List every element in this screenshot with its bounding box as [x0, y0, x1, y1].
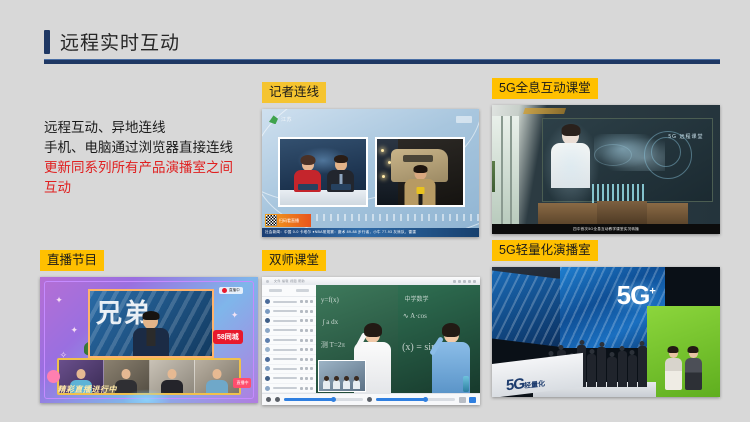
- main-stage-video: 兄弟: [88, 289, 214, 359]
- volume-slider[interactable]: [284, 398, 363, 401]
- subject-body: [665, 358, 682, 390]
- participant-name: [273, 320, 297, 322]
- camera-icon[interactable]: [310, 339, 313, 342]
- van-window: [403, 155, 433, 162]
- host-head: [143, 313, 158, 329]
- header-divider: [44, 59, 720, 64]
- subject-hair: [668, 346, 679, 353]
- teacher-video-right[interactable]: 中学数学 ∿ A·cos (x) = sin: [398, 285, 480, 394]
- participant-row[interactable]: [262, 345, 316, 355]
- ceiling-light: [523, 108, 566, 114]
- camera-icon[interactable]: [310, 310, 313, 313]
- reporter-figure: [405, 167, 436, 205]
- toolbar-icon: [458, 280, 461, 283]
- subject-figure: [665, 348, 682, 390]
- camera-icon[interactable]: [310, 329, 313, 332]
- channel-logo-text: 江苏: [281, 116, 292, 123]
- guest-thumbnail: [195, 360, 239, 393]
- titlebar-right-icons: [453, 280, 476, 283]
- anchor-folder: [298, 184, 318, 190]
- participant-row[interactable]: [262, 326, 316, 336]
- visitor-figure: [607, 357, 616, 387]
- clock-badge: [456, 116, 472, 123]
- qr-code-icon: [266, 215, 277, 226]
- participant-actions[interactable]: [300, 339, 313, 342]
- water-bottle: [463, 376, 469, 392]
- chalk-writing: 测 T=2π: [321, 340, 345, 350]
- anchor-hair: [334, 155, 348, 163]
- camera-icon[interactable]: [310, 319, 313, 322]
- mic-icon[interactable]: [305, 387, 308, 390]
- channel-logo: 江苏: [269, 115, 292, 124]
- participant-avatar: [265, 376, 270, 381]
- visitor-figure: [597, 347, 606, 387]
- student-figure: [333, 380, 340, 389]
- participant-row[interactable]: [262, 365, 316, 375]
- street-lamp-icon: [381, 149, 384, 152]
- participant-name: [273, 387, 297, 389]
- teacher-hair: [442, 323, 460, 337]
- camera-icon[interactable]: [310, 377, 313, 380]
- host-hair: [142, 311, 159, 320]
- participant-avatar: [265, 357, 270, 362]
- anchor-left: [294, 158, 321, 192]
- participant-avatar: [265, 328, 270, 333]
- guest-head: [167, 369, 176, 379]
- tile-caption-holographic-classroom: 5G全息互动课堂: [492, 78, 598, 99]
- participant-actions[interactable]: [300, 367, 313, 370]
- guest-body: [161, 380, 183, 393]
- window-mullion: [510, 116, 512, 224]
- user-icon[interactable]: [300, 377, 303, 380]
- teacher-hair: [364, 323, 382, 337]
- tile-reporter-link: 记者连线 江苏: [262, 82, 479, 237]
- app-bottom-toolbar[interactable]: [262, 393, 480, 405]
- participant-name: [273, 349, 297, 351]
- participant-name: [273, 301, 297, 303]
- visitor-figure: [587, 354, 596, 387]
- mic-icon[interactable]: [275, 397, 280, 402]
- sparkle-icon: ✦: [71, 325, 79, 336]
- copy-line-3: 更新同系列所有产品演播室之间: [44, 158, 259, 178]
- hologram-teacher: [551, 126, 590, 206]
- corner-pill-badge: 直播中: [233, 378, 251, 388]
- decor-orb: [123, 389, 171, 403]
- anchor-folder: [331, 184, 351, 190]
- chalk-writing: ∿ A·cos: [403, 312, 427, 320]
- screenshot-video-conference-app: 文件 编辑 视图 帮助: [262, 277, 480, 405]
- fullscreen-button[interactable]: [469, 397, 476, 403]
- tile-lightweight-5g-studio: 5G轻量化演播室 5G+: [492, 240, 720, 397]
- camera-icon[interactable]: [310, 387, 313, 390]
- teacher-head: [444, 326, 459, 343]
- user-icon[interactable]: [300, 339, 303, 342]
- student-figure: [343, 380, 350, 389]
- accent-bar-icon: [44, 30, 50, 54]
- participant-row[interactable]: [262, 297, 316, 307]
- participant-avatar: [265, 338, 270, 343]
- user-icon[interactable]: [300, 387, 303, 390]
- window-foliage: [492, 161, 495, 191]
- green-screen-subjects: [665, 348, 702, 390]
- leaf-icon: [269, 115, 278, 124]
- camera-icon[interactable]: [310, 358, 313, 361]
- student-figure: [353, 380, 360, 389]
- participant-actions[interactable]: [300, 358, 313, 361]
- participant-name: [273, 329, 297, 331]
- tile-caption-reporter-link: 记者连线: [262, 82, 326, 103]
- toolbar-icon: [463, 280, 466, 283]
- led-5g-superscript: +: [649, 286, 654, 298]
- visitor-figure: [638, 346, 647, 387]
- signage-sub: 轻量化: [524, 381, 545, 391]
- signage-5g: 5G: [506, 375, 524, 394]
- participant-actions[interactable]: [300, 377, 313, 380]
- anchor-desk: [280, 190, 366, 205]
- mic-icon[interactable]: [305, 300, 308, 303]
- toolbar-actions[interactable]: [459, 397, 476, 403]
- screenshot-expo-booth: 5G+: [492, 267, 720, 397]
- app-menubar-text: 文件 编辑 视图 帮助: [274, 279, 305, 283]
- tile-caption-live-program: 直播节目: [40, 250, 104, 271]
- participant-row[interactable]: [262, 384, 316, 394]
- live-tag: 直播中: [219, 287, 243, 294]
- video-stage: y=f(x) ∫ a dx 测 T=2π: [316, 285, 480, 394]
- caption-bar: 四中首次5G全息互动教学课堂实况转播: [492, 224, 720, 234]
- participant-row[interactable]: [262, 336, 316, 346]
- host-inner-shirt: [146, 328, 155, 346]
- settings-icon[interactable]: [266, 397, 271, 402]
- visitor-figure: [618, 351, 627, 387]
- street-lamp-icon: [382, 175, 385, 178]
- host-figure: [133, 313, 169, 356]
- sidebar-header-col: [269, 289, 282, 292]
- sparkle-icon: ✦: [231, 310, 239, 321]
- user-icon[interactable]: [300, 348, 303, 351]
- participant-actions[interactable]: [300, 310, 313, 313]
- sponsor-badge: 58同城: [213, 330, 243, 344]
- brightness-slider[interactable]: [376, 398, 455, 401]
- screenshot-holographic-classroom: 5G 远程课堂 四中首次5G全息互动教学课堂实况转播: [492, 105, 720, 234]
- subject-hair: [688, 346, 699, 353]
- board-text: 5G 远程课堂: [668, 133, 703, 140]
- body-copy: 远程互动、异地连线 手机、电脑通过浏览器直接连线 更新同系列所有产品演播室之间 …: [44, 118, 259, 198]
- participant-actions[interactable]: [300, 300, 313, 303]
- page-title: 远程实时互动: [60, 28, 180, 55]
- copy-line-4: 互动: [44, 178, 259, 198]
- mic-icon[interactable]: [305, 367, 308, 370]
- sidebar-header: [262, 285, 316, 297]
- guest-head: [122, 369, 131, 379]
- tile-holographic-classroom: 5G全息互动课堂 5G 远程课堂: [492, 78, 720, 234]
- slide-root: 远程实时互动 远程互动、异地连线 手机、电脑通过浏览器直接连线 更新同系列所有产…: [0, 0, 750, 422]
- participant-list-sidebar[interactable]: [262, 285, 317, 394]
- mic-flag-badge: [416, 187, 424, 194]
- participant-avatar: [265, 309, 270, 314]
- user-icon[interactable]: [300, 358, 303, 361]
- toolbar-icon: [473, 280, 476, 283]
- user-icon[interactable]: [300, 319, 303, 322]
- mic-icon[interactable]: [305, 339, 308, 342]
- guest-head: [212, 369, 221, 379]
- live-dot-icon: [222, 288, 227, 293]
- field-reporter-pane: [375, 137, 465, 207]
- camera-icon[interactable]: [310, 367, 313, 370]
- chalk-writing: y=f(x): [321, 296, 339, 304]
- participant-name: [273, 358, 297, 360]
- mic-icon[interactable]: [305, 319, 308, 322]
- guest-thumbnail: [150, 360, 195, 393]
- user-icon[interactable]: [300, 367, 303, 370]
- participant-name: [273, 339, 297, 341]
- led-5g-label: 5G: [617, 280, 650, 310]
- participant-avatar: [265, 366, 270, 371]
- tile-caption-5g-studio: 5G轻量化演播室: [492, 240, 598, 261]
- copy-line-1: 远程互动、异地连线: [44, 118, 259, 138]
- mic-icon[interactable]: [305, 329, 308, 332]
- tile-caption-dual-teacher: 双师课堂: [262, 250, 326, 271]
- visitor-figure: [628, 355, 637, 387]
- screenshot-live-variety-show: ✦ ✦ ✦ ✧ 直播中 兄弟 58同城: [40, 277, 258, 403]
- anchor-right: [327, 158, 354, 192]
- news-ticker-text: 社会新闻：中国 0-0 卡塔尔 ●NBA常规赛：魔术 89-88 步行者，小牛 …: [262, 230, 416, 235]
- caption-bar-text: 四中首次5G全息互动教学课堂实况转播: [573, 227, 639, 232]
- subject-head: [669, 348, 678, 358]
- qr-promo-text: 扫码看直播: [279, 218, 299, 224]
- mic-icon[interactable]: [305, 377, 308, 380]
- remote-classroom-thumbnail[interactable]: [318, 360, 366, 392]
- participant-actions[interactable]: [300, 387, 313, 390]
- sidebar-header-col: [296, 289, 309, 292]
- mic-icon[interactable]: [305, 310, 308, 313]
- camera-icon[interactable]: [367, 397, 372, 402]
- page-header: 远程实时互动: [44, 28, 180, 55]
- participant-avatar: [265, 318, 270, 323]
- participant-avatar: [265, 299, 270, 304]
- chalk-writing: 中学数学: [405, 294, 429, 303]
- participant-avatar: [265, 347, 270, 352]
- window-dot-icon: [266, 280, 269, 283]
- chalk-writing: ∫ a dx: [323, 318, 339, 326]
- participant-actions[interactable]: [300, 329, 313, 332]
- participant-name: [273, 377, 297, 379]
- teacher-hair: [561, 124, 580, 136]
- subject-head: [689, 348, 698, 358]
- lectern: [597, 201, 647, 224]
- participant-actions[interactable]: [300, 348, 313, 351]
- share-button[interactable]: [459, 397, 466, 403]
- participant-avatar: [265, 386, 270, 391]
- heart-icon: [47, 370, 60, 383]
- user-icon[interactable]: [300, 310, 303, 313]
- guest-head: [77, 369, 86, 379]
- camera-icon[interactable]: [310, 348, 313, 351]
- anchor-hair: [300, 155, 315, 165]
- teacher-video-left[interactable]: y=f(x) ∫ a dx 测 T=2π: [316, 285, 398, 394]
- host-body: [133, 328, 169, 356]
- news-ticker: 社会新闻：中国 0-0 卡塔尔 ●NBA常规赛：魔术 89-88 步行者，小牛 …: [262, 228, 479, 237]
- window-mullion: [501, 116, 503, 224]
- mic-icon[interactable]: [305, 348, 308, 351]
- tile-live-program: 直播节目 ✦ ✦ ✦ ✧ 直播中 兄弟 58同城: [40, 250, 258, 403]
- user-icon[interactable]: [300, 329, 303, 332]
- toolbar-icon: [453, 280, 456, 283]
- camera-icon[interactable]: [310, 300, 313, 303]
- subject-figure: [685, 348, 702, 390]
- classroom-window: [492, 116, 519, 224]
- guest-body: [206, 380, 228, 393]
- toolbar-icon: [468, 280, 471, 283]
- participant-name: [273, 310, 297, 312]
- participant-actions[interactable]: [300, 319, 313, 322]
- qr-promo-banner: 扫码看直播: [265, 214, 311, 227]
- studio-anchors-pane: [278, 137, 368, 207]
- live-tag-text: 直播中: [229, 288, 240, 293]
- user-icon[interactable]: [300, 300, 303, 303]
- subject-body: [685, 358, 702, 390]
- participant-row[interactable]: [262, 374, 316, 384]
- screenshot-tv-news-split: 江苏: [262, 109, 479, 237]
- teacher-head: [365, 326, 380, 343]
- sparkle-icon: ✦: [55, 295, 63, 306]
- student-figure: [323, 380, 330, 389]
- participant-rows[interactable]: [262, 297, 316, 405]
- show-label: 精彩直播进行中: [57, 384, 117, 395]
- participant-name: [273, 368, 297, 370]
- mic-icon[interactable]: [305, 358, 308, 361]
- reporter-hair: [413, 165, 427, 173]
- participant-row[interactable]: [262, 317, 316, 327]
- participant-row[interactable]: [262, 307, 316, 317]
- tile-dual-teacher-classroom: 双师课堂 文件 编辑 视图 帮助: [262, 250, 480, 405]
- participant-row[interactable]: [262, 355, 316, 365]
- copy-line-2: 手机、电脑通过浏览器直接连线: [44, 138, 259, 158]
